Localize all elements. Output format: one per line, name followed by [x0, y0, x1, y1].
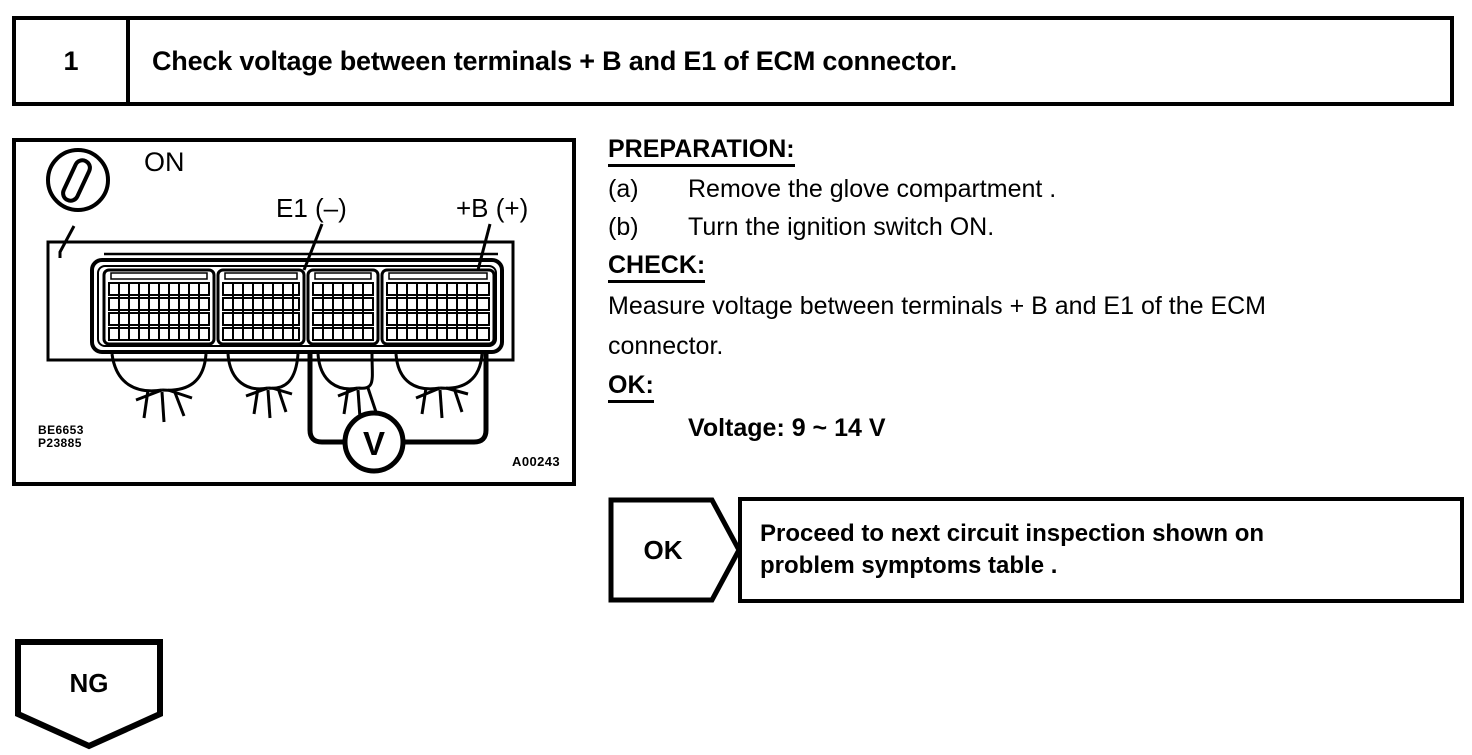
wire-harness — [112, 354, 482, 422]
ecm-connector-housing — [92, 260, 502, 352]
leader-line-e1 — [304, 224, 322, 270]
leader-line-plus-b — [478, 224, 490, 270]
step-text: Turn the ignition switch ON. — [688, 208, 1464, 246]
instruction-column: PREPARATION: (a) Remove the glove compar… — [608, 130, 1464, 450]
figure-reference-code-left: BE6653 P23885 — [38, 424, 84, 450]
figure-code-bottom: P23885 — [38, 437, 84, 450]
ng-arrow-label: NG — [14, 638, 164, 728]
ok-result-row: OK Proceed to next circuit inspection sh… — [608, 497, 1464, 603]
step-header-bar: 1 Check voltage between terminals + B an… — [12, 16, 1454, 106]
ok-specification: Voltage: 9 ~ 14 V — [608, 406, 1464, 450]
step-marker: (a) — [608, 170, 688, 208]
ok-message-box: Proceed to next circuit inspection shown… — [738, 497, 1464, 603]
preparation-step: (b) Turn the ignition switch ON. — [608, 208, 1464, 246]
ecm-connector-diagram: V ON E1 (–) +B (+) — [16, 142, 572, 482]
check-text-line-2: connector. — [608, 326, 1464, 366]
preparation-heading: PREPARATION: — [608, 134, 795, 167]
check-heading: CHECK: — [608, 250, 705, 283]
connector-block — [308, 270, 378, 344]
terminal-plus-b-label: +B (+) — [456, 193, 528, 223]
preparation-step: (a) Remove the glove compartment . — [608, 170, 1464, 208]
ng-result-marker: NG — [14, 638, 164, 750]
ok-message-line-1: Proceed to next circuit inspection shown… — [760, 518, 1264, 550]
step-text: Remove the glove compartment . — [688, 170, 1464, 208]
connector-block — [104, 270, 214, 344]
voltmeter-icon: V — [345, 413, 403, 471]
figure-panel: V ON E1 (–) +B (+) BE6653 P23885 A00243 — [12, 138, 576, 486]
check-text-line-1: Measure voltage between terminals + B an… — [608, 286, 1464, 326]
step-number: 1 — [16, 20, 130, 102]
step-title: Check voltage between terminals + B and … — [130, 20, 1450, 102]
ok-message-line-2: problem symptoms table . — [760, 550, 1264, 582]
connector-block — [382, 270, 494, 344]
ignition-on-label: ON — [144, 147, 185, 177]
ignition-key-icon — [48, 150, 108, 210]
ok-heading: OK: — [608, 370, 654, 403]
figure-reference-code-right: A00243 — [512, 455, 560, 468]
ok-arrow-label: OK — [608, 497, 718, 603]
connector-block — [218, 270, 304, 344]
terminal-e1-label: E1 (–) — [276, 193, 347, 223]
voltmeter-label: V — [363, 425, 385, 462]
step-marker: (b) — [608, 208, 688, 246]
